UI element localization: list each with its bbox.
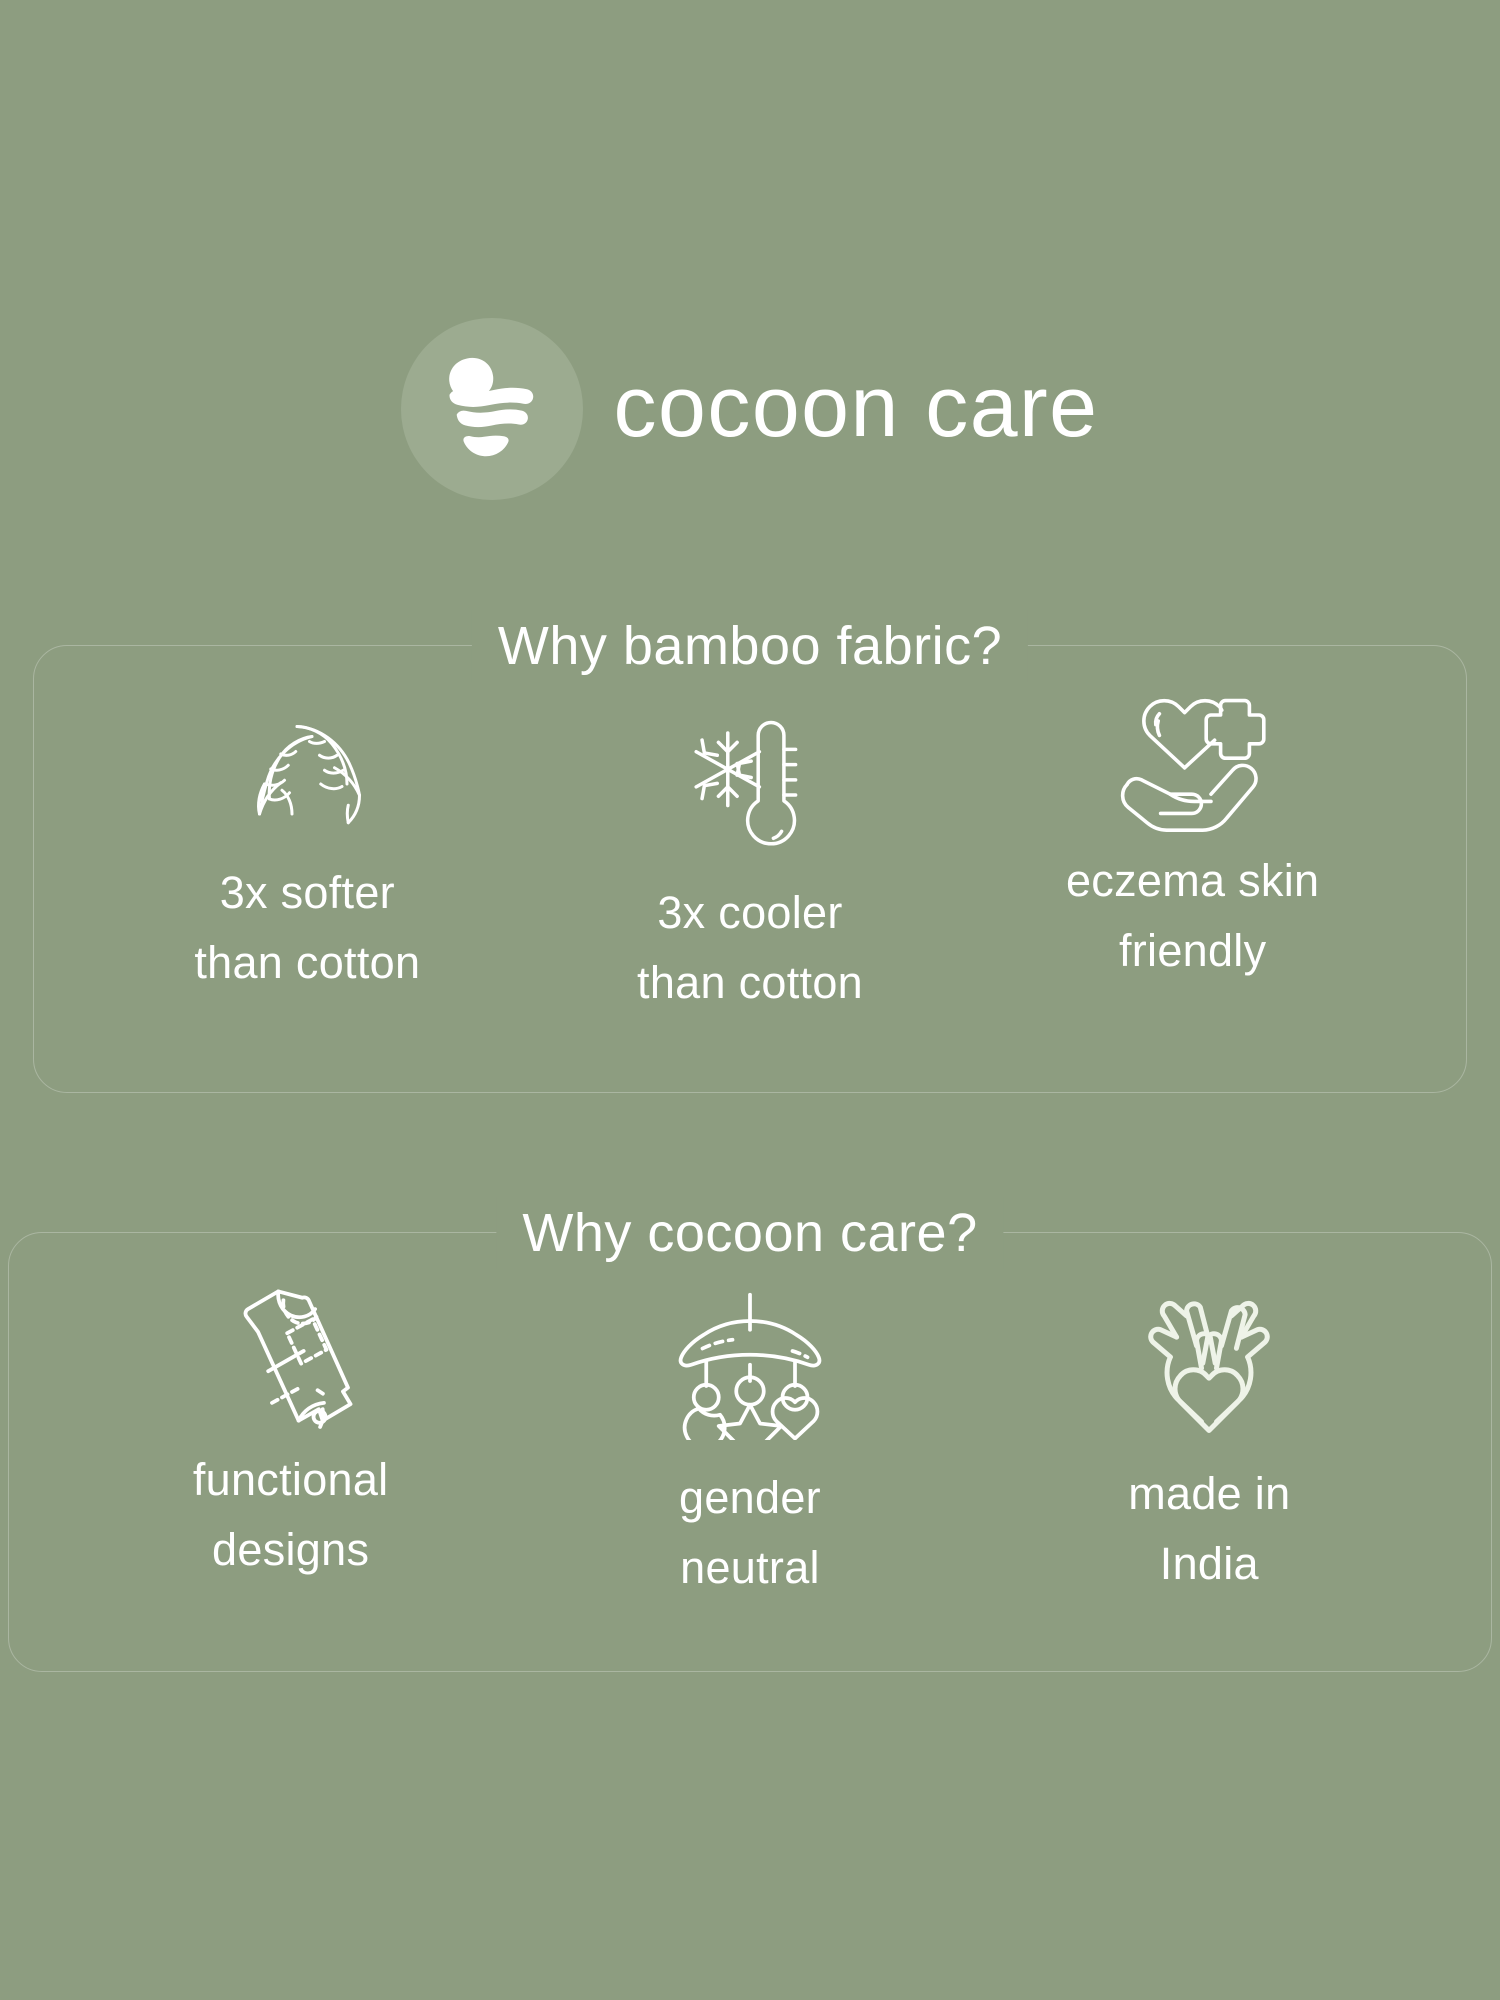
feature-softer-line1: 3x softer <box>194 858 420 928</box>
feature-cooler: 3x cooler than cotton <box>529 694 972 1018</box>
feature-designs-label: functional designs <box>193 1445 389 1585</box>
brand-name: cocoon care <box>613 364 1098 450</box>
feature-eczema: eczema skin friendly <box>971 694 1414 986</box>
feature-india-line1: made in <box>1128 1459 1290 1529</box>
feature-gender-label: gender neutral <box>679 1463 821 1603</box>
feathers-icon <box>232 694 382 844</box>
feature-row-brand: functional designs <box>9 1233 1491 1671</box>
baby-mobile-icon <box>670 1291 830 1441</box>
thermometer-snowflake-icon <box>685 706 815 856</box>
feature-cooler-label: 3x cooler than cotton <box>637 878 863 1018</box>
feature-row-fabric: 3x softer than cotton <box>34 646 1466 1092</box>
feature-india-label: made in India <box>1128 1459 1290 1599</box>
feature-designs-line2: designs <box>193 1515 389 1585</box>
feature-softer: 3x softer than cotton <box>86 694 529 998</box>
promo-page: cocoon care Why bamboo fabric? <box>0 0 1500 2000</box>
feature-eczema-label: eczema skin friendly <box>1066 846 1319 986</box>
feature-softer-label: 3x softer than cotton <box>194 858 420 998</box>
brand-header: cocoon care <box>0 318 1500 500</box>
section-card-fabric: Why bamboo fabric? <box>33 645 1467 1093</box>
baby-onesie-icon <box>220 1281 362 1431</box>
feature-gender-neutral: gender neutral <box>520 1281 979 1603</box>
feature-eczema-line1: eczema skin <box>1066 846 1319 916</box>
feature-designs-line1: functional <box>193 1445 389 1515</box>
feature-functional-designs: functional designs <box>61 1281 520 1585</box>
feature-gender-line1: gender <box>679 1463 821 1533</box>
feature-eczema-line2: friendly <box>1066 916 1319 986</box>
feature-gender-line2: neutral <box>679 1533 821 1603</box>
feature-cooler-line2: than cotton <box>637 948 863 1018</box>
feature-softer-line2: than cotton <box>194 928 420 998</box>
cocoon-sun-waves-logo-icon <box>401 318 583 500</box>
feature-cooler-line1: 3x cooler <box>637 878 863 948</box>
hand-heart-cross-icon <box>1115 688 1271 838</box>
section-card-brand: Why cocoon care? <box>8 1232 1492 1672</box>
feature-made-in-india: made in India <box>980 1281 1439 1599</box>
hands-heart-icon <box>1133 1287 1285 1437</box>
feature-india-line2: India <box>1128 1529 1290 1599</box>
